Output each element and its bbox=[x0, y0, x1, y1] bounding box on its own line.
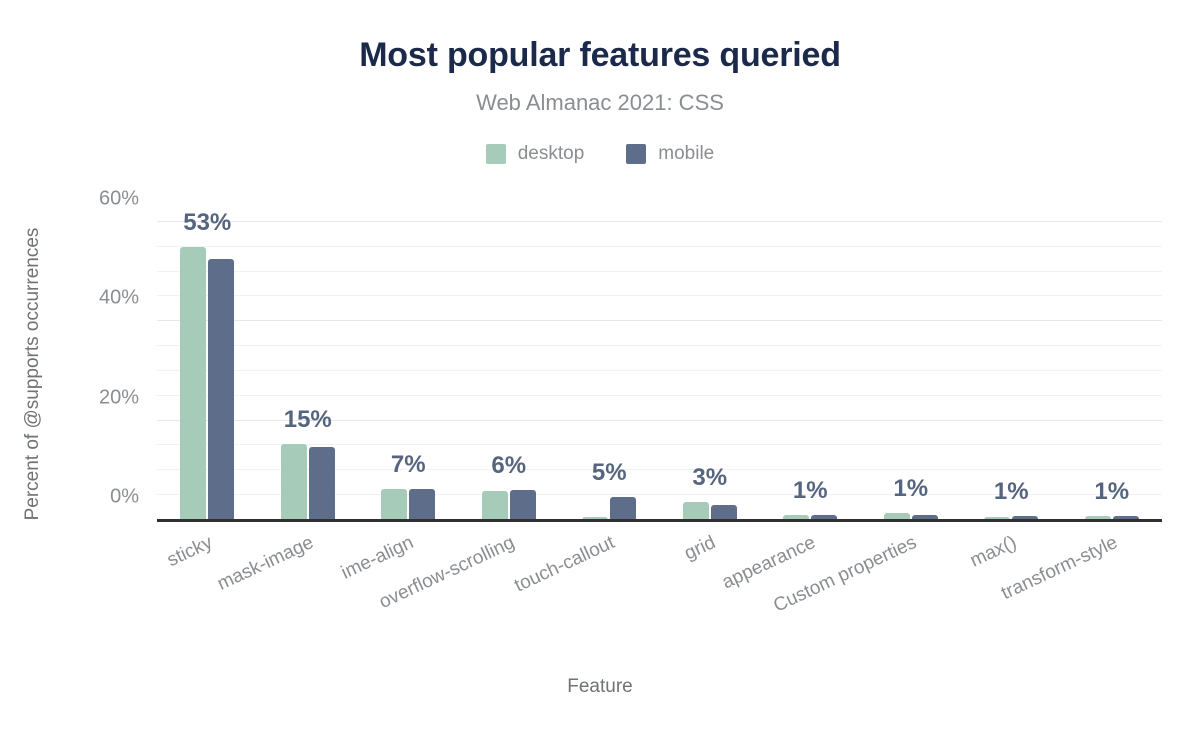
chart-legend: desktopmobile bbox=[0, 143, 1200, 165]
y-tick-label: 60% bbox=[9, 187, 139, 210]
bar-desktop[interactable] bbox=[683, 502, 709, 520]
legend-swatch-icon bbox=[486, 144, 506, 164]
bar-value-label: 1% bbox=[1052, 478, 1172, 506]
chart-title: Most popular features queried bbox=[0, 36, 1200, 75]
plot-area: 0%20%40%60% 53%15%7%6%5%3%1%1%1%1% bbox=[157, 207, 1162, 520]
y-axis-title: Percent of @supports occurrences bbox=[22, 94, 44, 654]
bar-group bbox=[783, 207, 837, 520]
bar-group bbox=[1085, 207, 1139, 520]
bar-mobile[interactable] bbox=[409, 489, 435, 520]
bar-desktop[interactable] bbox=[180, 247, 206, 520]
legend-label: desktop bbox=[518, 143, 585, 165]
bar-group bbox=[281, 207, 335, 520]
chart-page: Most popular features queried Web Almana… bbox=[0, 0, 1200, 742]
bar-mobile[interactable] bbox=[610, 497, 636, 520]
bar-mobile[interactable] bbox=[208, 259, 234, 520]
bar-desktop[interactable] bbox=[381, 489, 407, 520]
bar-desktop[interactable] bbox=[482, 491, 508, 520]
bar-value-label: 53% bbox=[147, 209, 267, 237]
chart-subtitle: Web Almanac 2021: CSS bbox=[0, 90, 1200, 116]
bar-desktop[interactable] bbox=[281, 444, 307, 520]
bar-mobile[interactable] bbox=[510, 490, 536, 520]
bar-mobile[interactable] bbox=[309, 447, 335, 520]
legend-swatch-icon bbox=[626, 144, 646, 164]
bar-group bbox=[180, 207, 234, 520]
y-tick-label: 40% bbox=[9, 287, 139, 310]
legend-item-desktop[interactable]: desktop bbox=[486, 143, 585, 165]
legend-item-mobile[interactable]: mobile bbox=[626, 143, 714, 165]
bar-mobile[interactable] bbox=[711, 505, 737, 520]
x-axis-title: Feature bbox=[0, 676, 1200, 698]
y-tick-label: 0% bbox=[9, 486, 139, 509]
bar-value-label: 15% bbox=[248, 406, 368, 434]
bar-group bbox=[984, 207, 1038, 520]
x-axis-line bbox=[157, 519, 1162, 522]
bar-group bbox=[884, 207, 938, 520]
y-tick-label: 20% bbox=[9, 386, 139, 409]
legend-label: mobile bbox=[658, 143, 714, 165]
